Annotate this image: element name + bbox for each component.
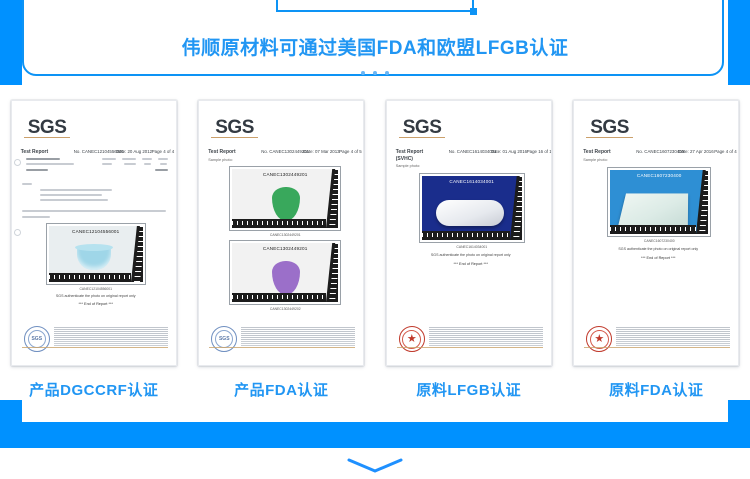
certificate-grid: SGS Test Report No. CANEC12104556001 Dat… bbox=[0, 100, 750, 400]
certification-seal-icon: ★ bbox=[399, 326, 425, 352]
droplet-sample-green bbox=[272, 187, 300, 221]
sgs-logo: SGS bbox=[215, 117, 254, 139]
header-section: 认证资质 伟顺原材料可通过美国FDA和欧盟LFGB认证 bbox=[0, 0, 750, 90]
footer-rule bbox=[209, 347, 355, 348]
sample-photo-label: Sample photo: bbox=[208, 158, 233, 162]
sample-photo: CANEC12104556001 bbox=[49, 226, 143, 282]
sample-photo: CANEC1607230400 bbox=[610, 170, 708, 234]
footer-contact-block bbox=[429, 341, 543, 346]
certificate-footer: ★ bbox=[397, 327, 543, 349]
ruler-vertical bbox=[696, 170, 708, 234]
certificate-item[interactable]: SGS Test Report No. CANEC1302449201 Date… bbox=[188, 100, 376, 400]
sample-photo-frame: CANEC1614034001 bbox=[419, 173, 525, 243]
dot-3 bbox=[385, 71, 389, 75]
sample-photo-label: Sample photo: bbox=[396, 164, 421, 168]
photo-caption: CANEC1302449201 bbox=[232, 172, 338, 177]
decorative-dots bbox=[0, 62, 750, 80]
sheet-sample bbox=[618, 193, 689, 228]
report-date: Date: 01 Aug 2016 bbox=[491, 149, 527, 154]
report-page: Page 4 of 4 bbox=[714, 149, 736, 154]
footer-text-block bbox=[616, 327, 730, 340]
ruler-horizontal bbox=[49, 273, 131, 282]
certificate-item[interactable]: SGS Test Report (SVHC) No. CANEC16140340… bbox=[375, 100, 563, 400]
photo-bottom-caption: CANEC1302449201 bbox=[229, 233, 341, 237]
photo-bottom-caption: CANEC1614034001 bbox=[419, 245, 525, 249]
sample-photo-label: Sample photo: bbox=[583, 158, 608, 162]
photo-bottom-caption: CANEC12104556001 bbox=[46, 287, 146, 291]
end-of-report-note: *** End of Report *** bbox=[405, 262, 537, 266]
report-sublabel: (SVHC) bbox=[396, 156, 413, 162]
report-page: Page 4 of 4 bbox=[152, 149, 174, 154]
sgs-logo: SGS bbox=[590, 117, 629, 139]
ruler-vertical bbox=[131, 226, 143, 282]
certificate-footer: SGS bbox=[22, 327, 168, 349]
photo-caption: CANEC1614034001 bbox=[422, 179, 522, 184]
dot-2 bbox=[373, 71, 377, 75]
sample-photo: CANEC1614034001 bbox=[422, 176, 522, 240]
photo-caption: CANEC1607230400 bbox=[610, 173, 708, 178]
ruler-vertical bbox=[326, 243, 338, 302]
blue-divider-band bbox=[0, 422, 750, 448]
footer-rule bbox=[584, 347, 730, 348]
footer-section bbox=[0, 400, 750, 479]
ruler-horizontal bbox=[610, 225, 696, 234]
certificate-image-fda-material[interactable]: SGS Test Report No. CANEC1607230400 Date… bbox=[573, 100, 739, 366]
punch-hole bbox=[14, 159, 21, 166]
white-inset-strip bbox=[22, 400, 728, 422]
sample-photo: CANEC1302449201 bbox=[232, 243, 338, 302]
seal-text: SGS bbox=[219, 336, 230, 342]
photo-caption: CANEC1302449201 bbox=[232, 246, 338, 251]
certificate-footer: ★ bbox=[584, 327, 730, 349]
sample-photo-frame: CANEC1607230400 bbox=[607, 167, 711, 237]
ruler-vertical bbox=[510, 176, 522, 240]
section-title-box: 认证资质 bbox=[276, 0, 474, 12]
authenticate-note: SGS authenticate the photo on original r… bbox=[32, 294, 160, 298]
authenticate-note: SGS authenticate the photo on original r… bbox=[592, 247, 724, 251]
ruler-vertical bbox=[326, 169, 338, 228]
certificate-image-dgccrf[interactable]: SGS Test Report No. CANEC12104556001 Dat… bbox=[11, 100, 177, 366]
footer-text-block bbox=[241, 327, 355, 340]
end-of-report-note: *** End of Report *** bbox=[32, 302, 160, 306]
authenticate-note: SGS authenticate the photo on original r… bbox=[405, 253, 537, 257]
seal-text: ★ bbox=[594, 334, 604, 345]
seal-text: SGS bbox=[31, 336, 42, 342]
report-page: Page 4 of 5 bbox=[339, 149, 361, 154]
footer-rule bbox=[22, 347, 168, 348]
sgs-logo: SGS bbox=[403, 117, 442, 139]
certificate-image-fda-product[interactable]: SGS Test Report No. CANEC1302449201 Date… bbox=[198, 100, 364, 366]
end-of-report-note: *** End of Report *** bbox=[592, 256, 724, 260]
header-subtitle: 伟顺原材料可通过美国FDA和欧盟LFGB认证 bbox=[0, 33, 750, 60]
left-accent-bar-bottom bbox=[0, 400, 22, 422]
sample-photo: CANEC1302449201 bbox=[232, 169, 338, 228]
certificate-caption: 原料FDA认证 bbox=[609, 379, 703, 400]
footer-contact-block bbox=[241, 341, 355, 346]
sgs-seal-icon: SGS bbox=[211, 326, 237, 352]
report-label: Test Report bbox=[583, 149, 610, 155]
title-corner-marker bbox=[470, 8, 477, 15]
seal-text: ★ bbox=[407, 334, 417, 345]
certificate-footer: SGS bbox=[209, 327, 355, 349]
page-title: 认证资质 bbox=[319, 0, 431, 3]
bowl-rim bbox=[75, 244, 113, 251]
report-page: Page 16 of 16 bbox=[527, 149, 552, 154]
footer-text-block bbox=[54, 327, 168, 340]
footer-contact-block bbox=[616, 341, 730, 346]
certificate-caption: 原料LFGB认证 bbox=[416, 379, 521, 400]
sgs-logo: SGS bbox=[28, 117, 67, 139]
report-label: Test Report bbox=[208, 149, 235, 155]
sample-photo-frame: CANEC1302449201 bbox=[229, 240, 341, 305]
footer-rule bbox=[397, 347, 543, 348]
footer-contact-block bbox=[54, 341, 168, 346]
punch-hole bbox=[14, 229, 21, 236]
report-number: No. CANEC1607230400 bbox=[636, 149, 684, 154]
report-date: Date: 20 Aug 2012 bbox=[116, 149, 152, 154]
certificate-item[interactable]: SGS Test Report No. CANEC12104556001 Dat… bbox=[0, 100, 188, 400]
footer-text-block bbox=[429, 327, 543, 340]
certificate-caption: 产品DGCCRF认证 bbox=[29, 379, 158, 400]
sample-photo-frame: CANEC1302449201 bbox=[229, 166, 341, 231]
report-date: Date: 07 Mar 2013 bbox=[303, 149, 339, 154]
sample-photo-frame: CANEC12104556001 bbox=[46, 223, 146, 285]
photo-caption: CANEC12104556001 bbox=[49, 229, 143, 234]
report-date: Date: 27 Apr 2016 bbox=[678, 149, 713, 154]
sgs-seal-icon: SGS bbox=[24, 326, 50, 352]
report-number: No. CANEC1302449201 bbox=[261, 149, 309, 154]
certification-seal-icon: ★ bbox=[586, 326, 612, 352]
report-label: Test Report bbox=[396, 149, 423, 155]
dot-1 bbox=[361, 71, 365, 75]
chevron-down-icon[interactable] bbox=[0, 456, 750, 476]
certificate-caption: 产品FDA认证 bbox=[234, 379, 328, 400]
right-accent-bar-bottom bbox=[728, 400, 750, 422]
report-number: No. CANEC1614034001 bbox=[449, 149, 497, 154]
ruler-horizontal bbox=[232, 219, 326, 228]
report-label: Test Report bbox=[21, 149, 48, 155]
droplet-sample-purple bbox=[272, 261, 300, 295]
ruler-horizontal bbox=[422, 231, 510, 240]
ruler-horizontal bbox=[232, 293, 326, 302]
certificate-item[interactable]: SGS Test Report No. CANEC1607230400 Date… bbox=[563, 100, 750, 400]
certificate-image-lfgb-material[interactable]: SGS Test Report (SVHC) No. CANEC16140340… bbox=[386, 100, 552, 366]
photo-bottom-caption: CANEC1607230400 bbox=[607, 239, 711, 243]
rounded-bar-sample bbox=[436, 200, 504, 226]
photo-bottom-caption: CANEC1302449202 bbox=[229, 307, 341, 311]
